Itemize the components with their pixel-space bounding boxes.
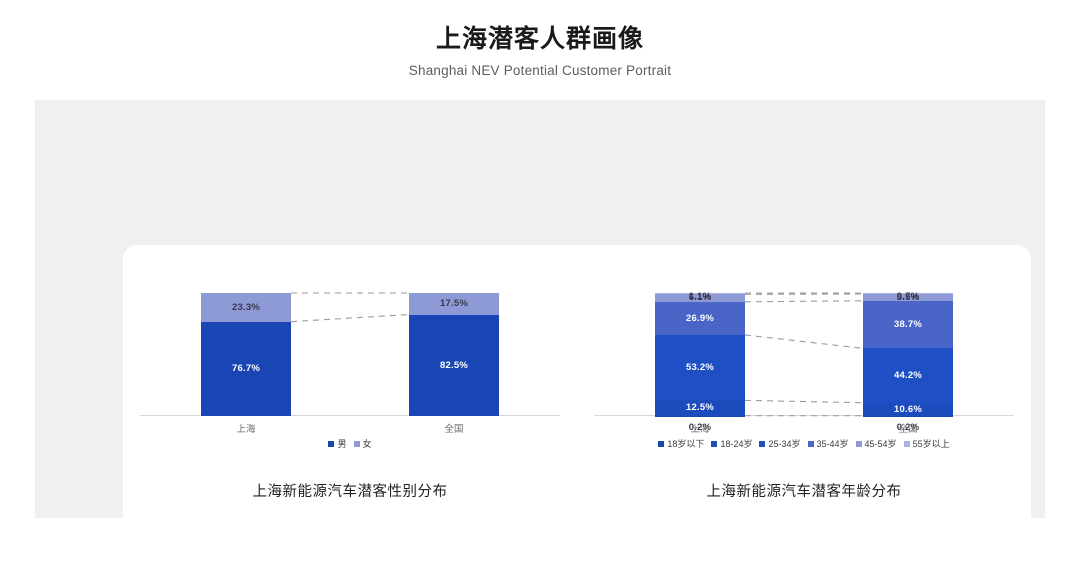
legend-swatch-icon	[354, 441, 360, 447]
age-chart-caption: 上海新能源汽车潜客年龄分布	[577, 480, 1031, 501]
gender-chart-plot: 76.7%23.3%82.5%17.5%上海全国	[123, 245, 577, 435]
bar-segment-25-34岁[interactable]: 44.2%	[863, 348, 953, 402]
legend-item-45-54岁[interactable]: 45-54岁	[856, 437, 897, 450]
bar-segment-18-24岁[interactable]: 12.5%	[655, 400, 745, 415]
legend-swatch-icon	[808, 441, 814, 447]
bar-segment-女[interactable]: 17.5%	[409, 293, 499, 315]
age-chart-plot: 0.2%12.5%53.2%26.9%6.1%1.1%0.2%10.6%44.2…	[577, 245, 1031, 435]
bar-segment-35-44岁[interactable]: 38.7%	[863, 301, 953, 349]
charts-card: 76.7%23.3%82.5%17.5%上海全国男女上海新能源汽车潜客性别分布0…	[123, 245, 1031, 566]
segment-value-label: 38.7%	[894, 320, 922, 330]
x-tick-label-全国: 全国	[898, 421, 917, 435]
content-panel: 76.7%23.3%82.5%17.5%上海全国男女上海新能源汽车潜客性别分布0…	[35, 100, 1045, 518]
charts-container: 76.7%23.3%82.5%17.5%上海全国男女上海新能源汽车潜客性别分布0…	[123, 245, 1031, 566]
segment-value-label: 44.2%	[894, 371, 922, 381]
segment-value-label: 12.5%	[686, 403, 714, 413]
legend-label: 男	[337, 437, 346, 450]
gender-chart-caption: 上海新能源汽车潜客性别分布	[123, 480, 577, 501]
x-tick-label-全国: 全国	[444, 421, 463, 435]
legend-item-18岁以下[interactable]: 18岁以下	[658, 437, 704, 450]
legend-swatch-icon	[856, 441, 862, 447]
bar-segment-25-34岁[interactable]: 53.2%	[655, 335, 745, 400]
page-subtitle: Shanghai NEV Potential Customer Portrait	[0, 63, 1080, 78]
bar-segment-35-44岁[interactable]: 26.9%	[655, 302, 745, 335]
legend-item-女[interactable]: 女	[354, 437, 372, 450]
legend-swatch-icon	[759, 441, 765, 447]
connector-lines	[123, 245, 577, 435]
bar-segment-女[interactable]: 23.3%	[201, 293, 291, 322]
legend-item-25-34岁[interactable]: 25-34岁	[759, 437, 800, 450]
legend-swatch-icon	[658, 441, 664, 447]
stacked-bar-上海[interactable]: 76.7%23.3%	[201, 293, 291, 416]
category-labels: 上海全国	[140, 417, 560, 435]
legend-swatch-icon	[904, 441, 910, 447]
legend-label: 18岁以下	[667, 437, 704, 450]
segment-value-label: 1.1%	[689, 292, 711, 302]
legend-label: 女	[363, 437, 372, 450]
x-tick-label-上海: 上海	[236, 421, 255, 435]
page-title: 上海潜客人群画像	[0, 24, 1080, 54]
category-labels: 上海全国	[594, 417, 1014, 435]
segment-value-label: 53.2%	[686, 363, 714, 373]
legend-label: 45-54岁	[865, 437, 897, 450]
legend-swatch-icon	[328, 441, 334, 447]
legend-item-35-44岁[interactable]: 35-44岁	[808, 437, 849, 450]
bar-segment-55岁以上[interactable]: 0.7%	[863, 293, 953, 294]
legend-label: 25-34岁	[768, 437, 800, 450]
stacked-bar-全国[interactable]: 82.5%17.5%	[409, 293, 499, 416]
segment-value-label: 26.9%	[686, 314, 714, 324]
chart-block-gender-chart: 76.7%23.3%82.5%17.5%上海全国男女上海新能源汽车潜客性别分布	[123, 245, 577, 566]
segment-value-label: 82.5%	[440, 361, 468, 371]
chart-block-age-chart: 0.2%12.5%53.2%26.9%6.1%1.1%0.2%10.6%44.2…	[577, 245, 1031, 566]
stacked-bar-全国[interactable]: 0.2%10.6%44.2%38.7%5.5%0.7%	[863, 293, 953, 416]
bar-segment-男[interactable]: 76.7%	[201, 322, 291, 416]
legend-label: 55岁以上	[913, 437, 950, 450]
legend-label: 35-44岁	[817, 437, 849, 450]
segment-value-label: 17.5%	[440, 299, 468, 309]
gender-chart-legend: 男女	[123, 437, 577, 450]
segment-value-label: 76.7%	[232, 364, 260, 374]
slide-page: 上海潜客人群画像 Shanghai NEV Potential Customer…	[0, 0, 1080, 547]
legend-item-18-24岁[interactable]: 18-24岁	[711, 437, 752, 450]
legend-label: 18-24岁	[720, 437, 752, 450]
legend-item-55岁以上[interactable]: 55岁以上	[904, 437, 950, 450]
segment-value-label: 0.7%	[897, 292, 919, 302]
segment-value-label: 10.6%	[894, 405, 922, 415]
segment-value-label: 23.3%	[232, 303, 260, 313]
x-tick-label-上海: 上海	[690, 421, 709, 435]
bar-segment-18-24岁[interactable]: 10.6%	[863, 403, 953, 416]
legend-item-男[interactable]: 男	[328, 437, 346, 450]
bar-segment-55岁以上[interactable]: 1.1%	[655, 293, 745, 294]
legend-swatch-icon	[711, 441, 717, 447]
page-header: 上海潜客人群画像 Shanghai NEV Potential Customer…	[0, 24, 1080, 78]
age-chart-legend: 18岁以下18-24岁25-34岁35-44岁45-54岁55岁以上	[577, 437, 1031, 450]
connector-lines	[577, 245, 1031, 435]
stacked-bar-上海[interactable]: 0.2%12.5%53.2%26.9%6.1%1.1%	[655, 293, 745, 416]
bar-segment-男[interactable]: 82.5%	[409, 315, 499, 416]
